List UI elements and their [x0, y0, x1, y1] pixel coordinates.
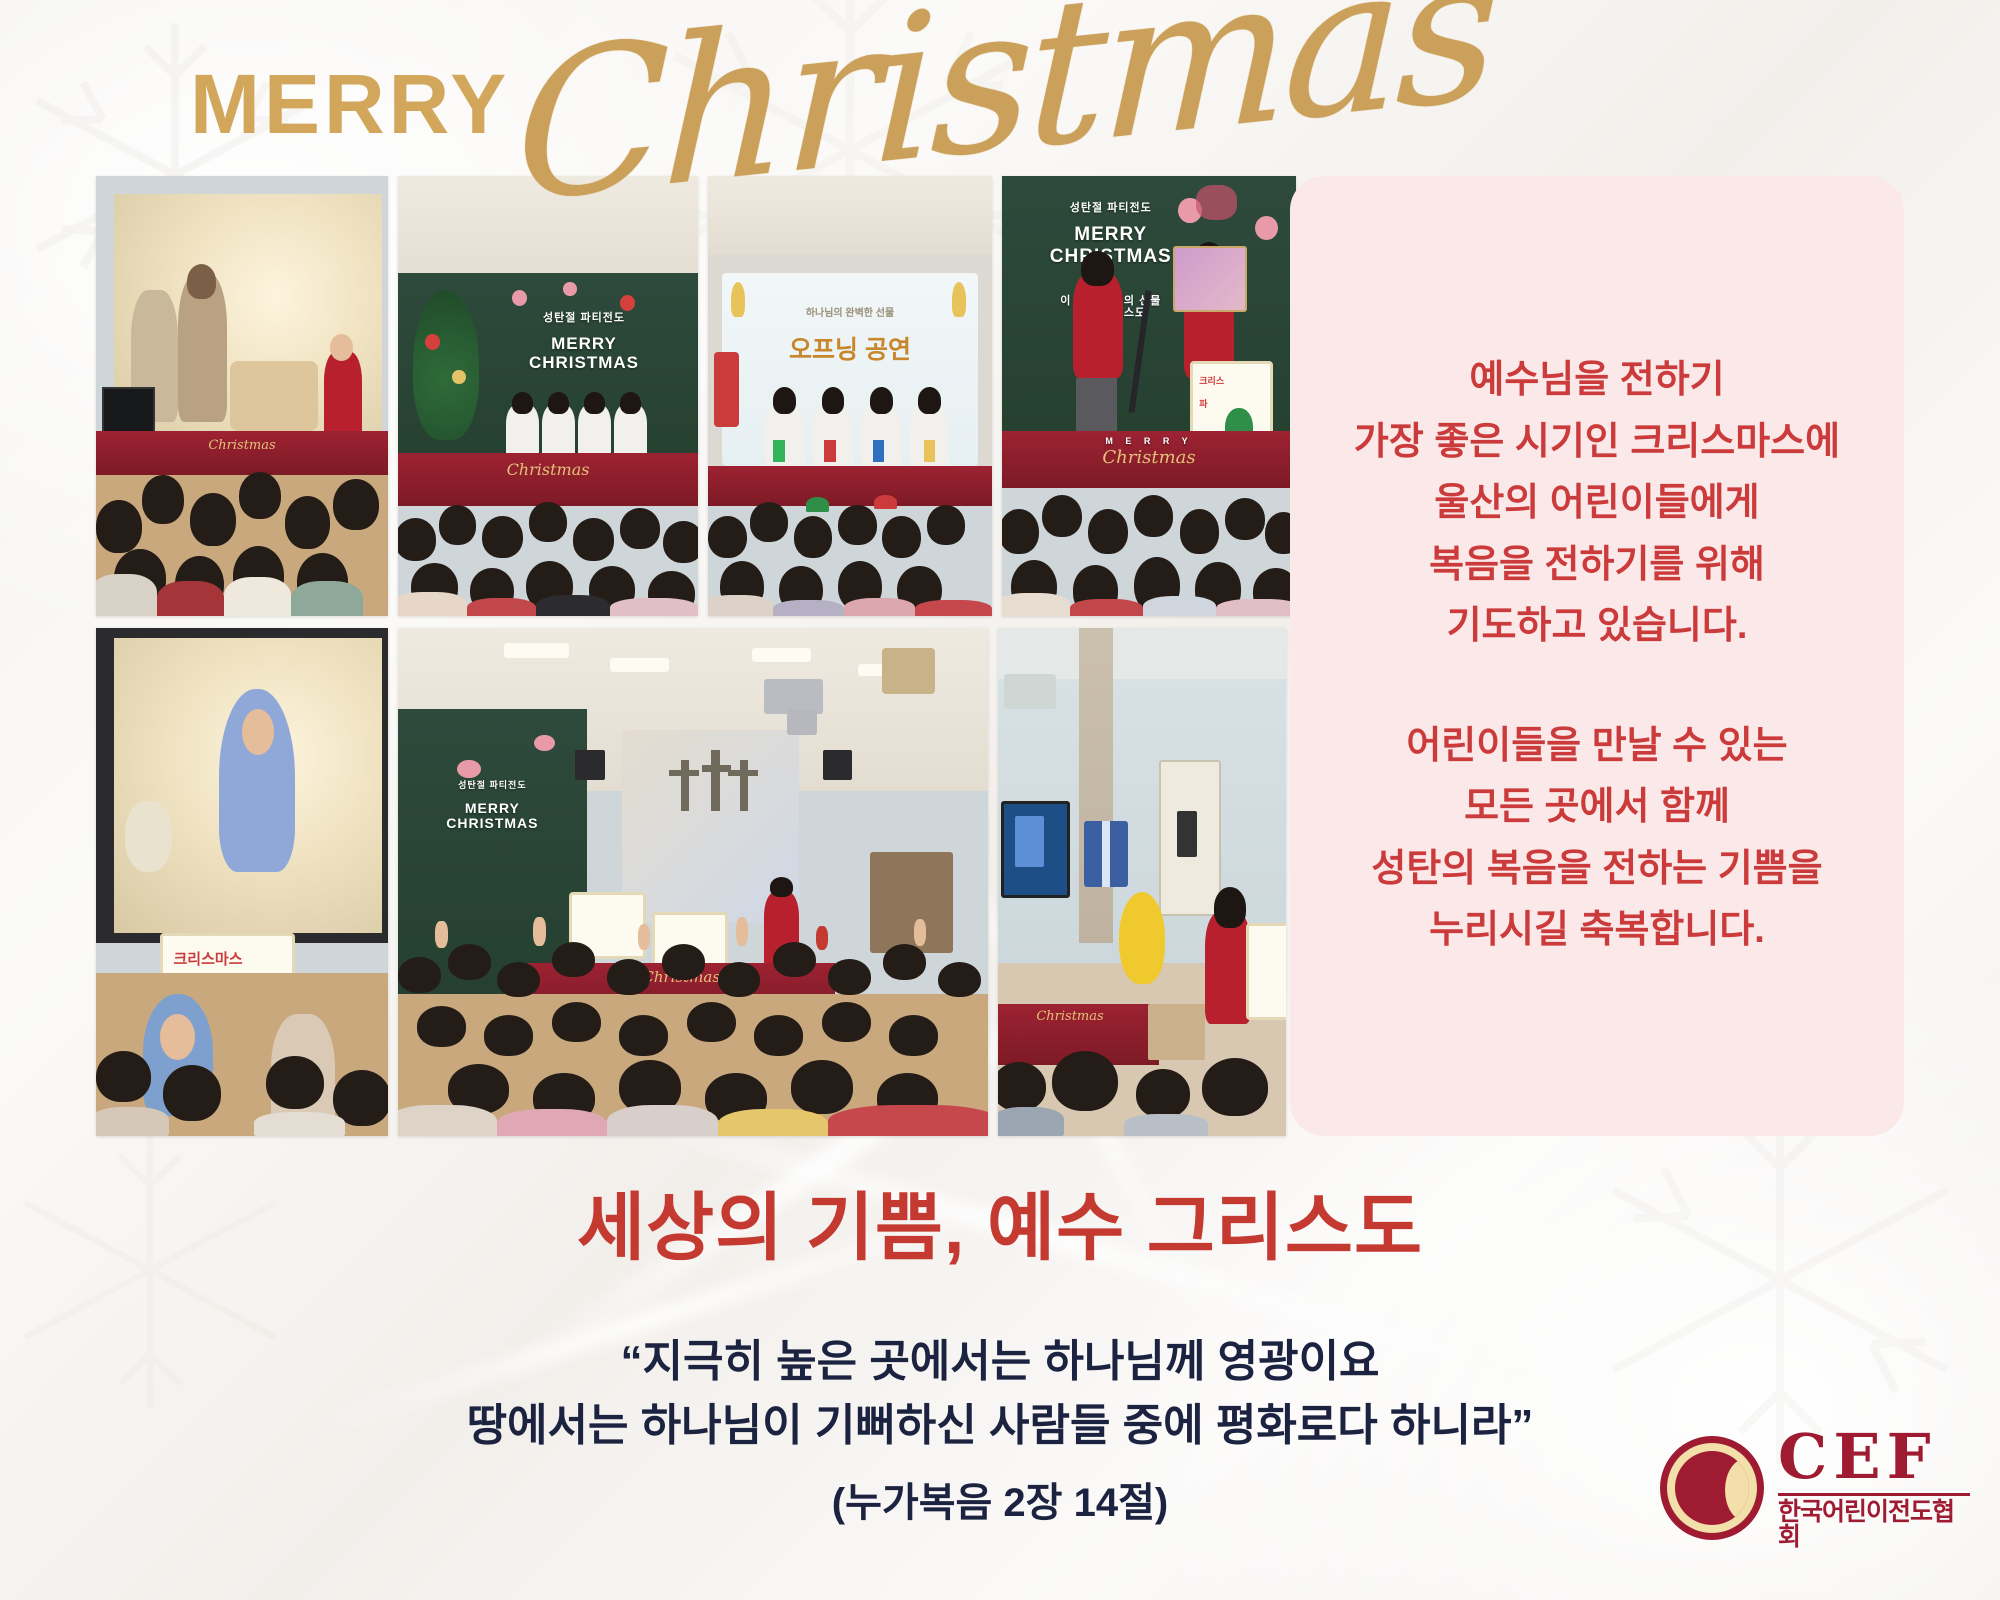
photo-caption-opening-performance: 오프닝 공연	[708, 330, 992, 366]
children-crowd	[96, 1014, 388, 1136]
photo-classroom-balloon: Christmas	[998, 628, 1286, 1136]
photo-hands-raised-hall: 성탄절 파티전도 MERRYCHRISTMAS	[398, 628, 988, 1136]
photo-caption-party: 성탄절 파티전도	[1020, 202, 1202, 214]
photo-caption-party: 성탄절 파티전도	[416, 780, 569, 790]
cef-letters: CEF	[1778, 1426, 1970, 1488]
message-paragraph-2: 어린이들을 만날 수 있는 모든 곳에서 함께 성탄의 복음을 전하는 기쁨을 …	[1371, 716, 1822, 962]
message-paragraph-1: 예수님을 전하기 가장 좋은 시기인 크리스마스에 울산의 어린이들에게 복음을…	[1354, 350, 1840, 658]
photo-caption-perfect-gift: 하나님의 완벽한 선물	[708, 304, 992, 319]
children-crowd	[1002, 475, 1296, 616]
merry-heading: MERRY	[190, 62, 510, 146]
photo-collage: Christmas	[96, 176, 1286, 1136]
photo-caption-merry-christmas: MERRYCHRISTMAS	[500, 334, 668, 372]
photo-two-leaders-sign: 성탄절 파티전도 MERRYCHRISTMAS 이 세상 최고의 선물예수 그리…	[1002, 176, 1296, 616]
cef-profile-icon	[1660, 1436, 1764, 1540]
children-crowd	[708, 484, 992, 616]
children-crowd	[398, 484, 698, 616]
children-crowd	[96, 440, 388, 616]
photo-row-bottom: 크리스마스 파 티	[96, 628, 1286, 1136]
photo-caption-merry-christmas: MERRYCHRISTMAS	[416, 801, 569, 832]
photo-row-top: Christmas	[96, 176, 1296, 616]
photo-opening-performance: 하나님의 완벽한 선물 오프닝 공연	[708, 176, 992, 616]
photo-mary-projection: 크리스마스 파 티	[96, 628, 388, 1136]
children-crowd-hands-raised	[398, 912, 988, 1136]
page-title: 세상의 기쁨, 예수 그리스도	[0, 1168, 2000, 1275]
poster-canvas: MERRY Christmas Christmas	[0, 0, 2000, 1600]
cef-logo-text: CEF 한국어린이전도협회	[1778, 1426, 1970, 1550]
photo-caption-party: 성탄절 파티전도	[500, 312, 668, 324]
cef-korean-name: 한국어린이전도협회	[1778, 1500, 1970, 1550]
message-panel: 예수님을 전하기 가장 좋은 시기인 크리스마스에 울산의 어린이들에게 복음을…	[1290, 176, 1904, 1136]
cef-divider	[1778, 1493, 1970, 1496]
children-crowd	[998, 1024, 1286, 1136]
photo-nativity-play: Christmas	[96, 176, 388, 616]
cef-logo: CEF 한국어린이전도협회	[1660, 1418, 1970, 1558]
